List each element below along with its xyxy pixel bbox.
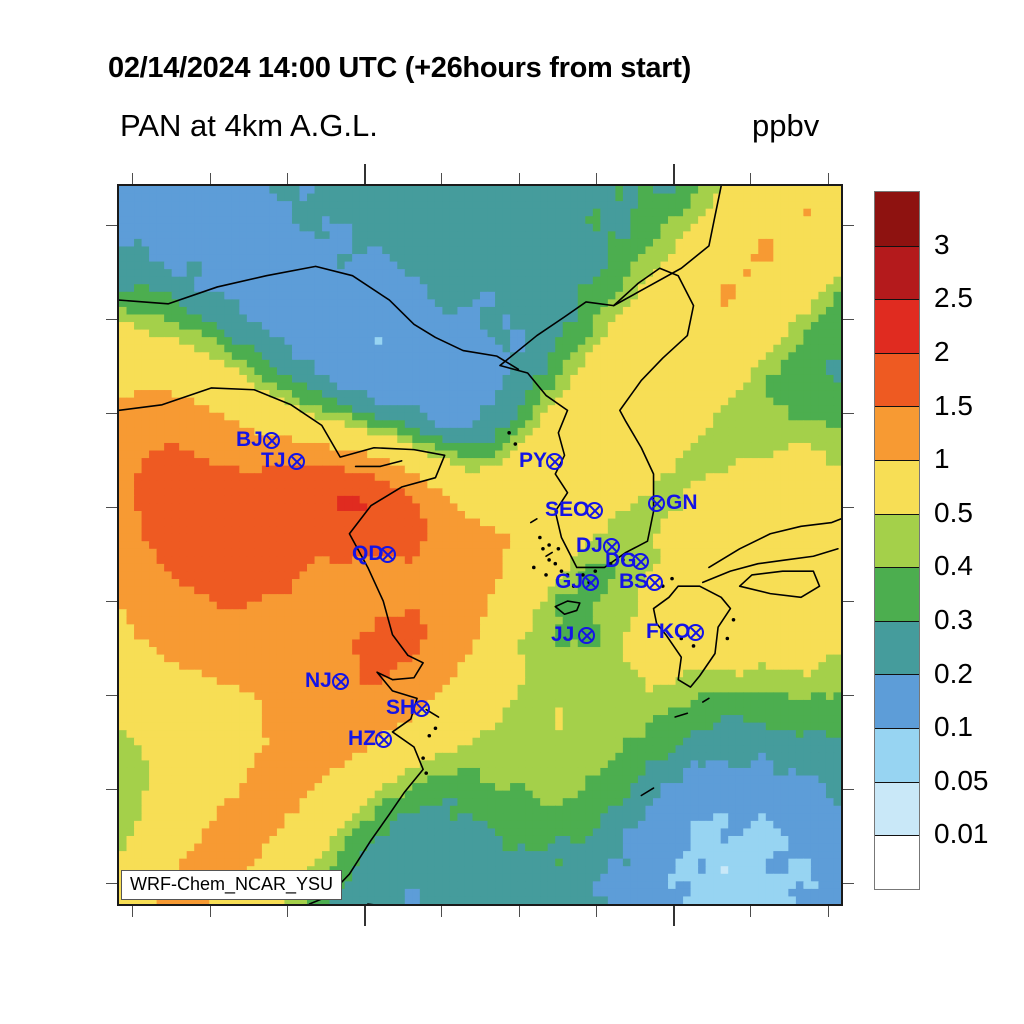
colorbar-tick-label: 0.01 xyxy=(934,818,989,850)
x-axis-tick-top xyxy=(828,173,829,184)
map-plot-area xyxy=(117,184,843,906)
x-axis-tick xyxy=(210,906,211,917)
x-axis-tick xyxy=(441,906,442,917)
colorbar-band xyxy=(875,353,919,407)
y-axis-tick xyxy=(106,507,117,508)
colorbar-band xyxy=(875,674,919,728)
colorbar-band xyxy=(875,406,919,460)
y-axis-tick xyxy=(106,883,117,884)
x-axis-tick-top xyxy=(519,173,520,184)
x-axis-tick xyxy=(364,906,366,926)
colorbar-band xyxy=(875,192,919,246)
colorbar-tick-label: 1.5 xyxy=(934,390,973,422)
colorbar-tick-label: 0.05 xyxy=(934,765,989,797)
y-axis-tick xyxy=(106,413,117,414)
figure-title: 02/14/2024 14:00 UTC (+26hours from star… xyxy=(108,52,691,85)
colorbar-tick-label: 0.5 xyxy=(934,497,973,529)
colorbar-tick-label: 3 xyxy=(934,229,950,261)
y-axis-tick xyxy=(106,319,117,320)
y-axis-tick-right xyxy=(843,507,854,508)
colorbar xyxy=(874,191,920,890)
colorbar-band xyxy=(875,460,919,514)
colorbar-tick-label: 1 xyxy=(934,443,950,475)
colorbar-tick-label: 2 xyxy=(934,336,950,368)
colorbar-band xyxy=(875,782,919,836)
x-axis-tick xyxy=(673,906,675,926)
y-axis-tick xyxy=(106,789,117,790)
x-axis-tick xyxy=(132,906,133,917)
x-axis-tick-top xyxy=(750,173,751,184)
colorbar-band xyxy=(875,299,919,353)
colorbar-tick-label: 2.5 xyxy=(934,282,973,314)
concentration-field xyxy=(119,186,841,904)
y-axis-tick xyxy=(106,601,117,602)
units-label: ppbv xyxy=(752,108,819,144)
x-axis-tick xyxy=(750,906,751,917)
x-axis-tick xyxy=(596,906,597,917)
x-axis-tick xyxy=(828,906,829,917)
colorbar-tick-label: 0.1 xyxy=(934,711,973,743)
x-axis-tick-top xyxy=(441,173,442,184)
x-axis-tick-top xyxy=(287,173,288,184)
y-axis-tick xyxy=(106,225,117,226)
x-axis-tick xyxy=(287,906,288,917)
y-axis-tick-right xyxy=(843,695,854,696)
y-axis-tick-right xyxy=(843,319,854,320)
colorbar-band xyxy=(875,246,919,300)
y-axis-tick-right xyxy=(843,225,854,226)
x-axis-tick-top xyxy=(210,173,211,184)
y-axis-tick-right xyxy=(843,601,854,602)
figure-subtitle: PAN at 4km A.G.L. xyxy=(120,108,378,144)
y-axis-tick-right xyxy=(843,413,854,414)
colorbar-band xyxy=(875,728,919,782)
model-attribution-tag: WRF-Chem_NCAR_YSU xyxy=(121,870,342,900)
colorbar-tick-label: 0.2 xyxy=(934,658,973,690)
colorbar-band xyxy=(875,835,919,889)
colorbar-band xyxy=(875,621,919,675)
x-axis-tick-top xyxy=(596,173,597,184)
colorbar-band xyxy=(875,567,919,621)
figure-canvas: 02/14/2024 14:00 UTC (+26hours from star… xyxy=(0,0,1024,1024)
colorbar-tick-label: 0.3 xyxy=(934,604,973,636)
y-axis-tick-right xyxy=(843,789,854,790)
x-axis-tick xyxy=(519,906,520,917)
x-axis-tick-top xyxy=(364,164,366,184)
x-axis-tick-top xyxy=(673,164,675,184)
colorbar-tick-label: 0.4 xyxy=(934,550,973,582)
y-axis-tick xyxy=(106,695,117,696)
y-axis-tick-right xyxy=(843,883,854,884)
x-axis-tick-top xyxy=(132,173,133,184)
colorbar-band xyxy=(875,514,919,568)
